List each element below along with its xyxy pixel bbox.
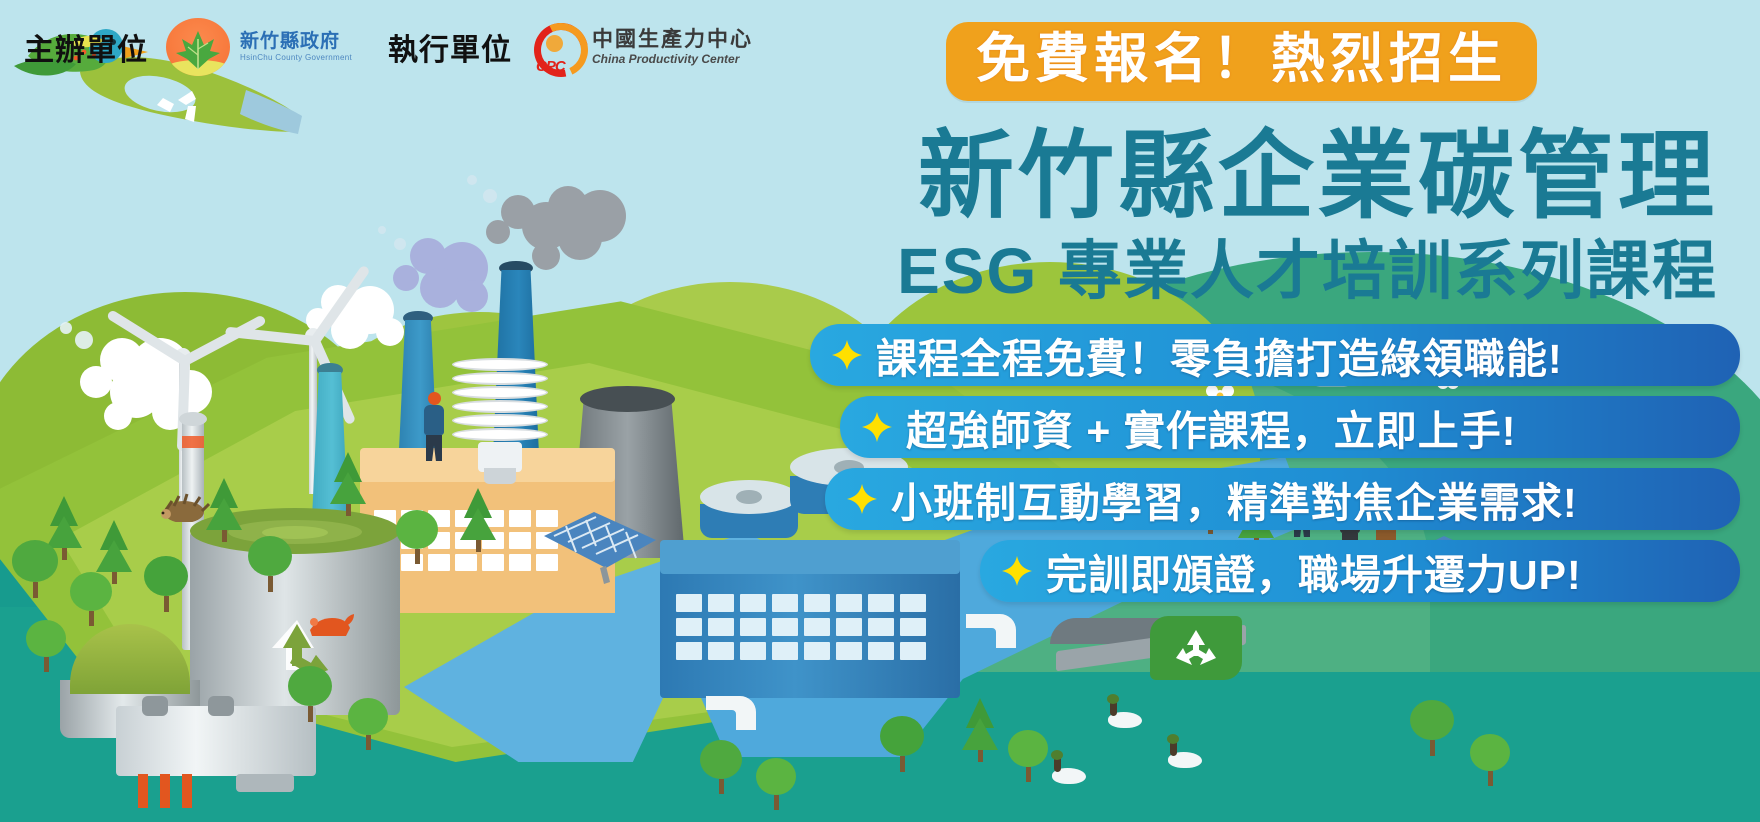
page-subtitle: ESG 專業人才培訓系列課程 — [600, 236, 1740, 308]
duck-1 — [1108, 712, 1142, 728]
fox — [302, 608, 356, 638]
duck-2 — [1168, 752, 1202, 768]
cpc-name-en: China Productivity Center — [592, 53, 753, 66]
feature-label-3: 小班制互動學習，精準對焦企業需求! — [891, 469, 1578, 529]
star-icon — [847, 484, 877, 514]
worker-on-roof — [420, 392, 448, 470]
sponsor-header: 主辦單位 新竹縣政府 HsinChu County Government 執行單… — [24, 18, 753, 76]
pine-tree-3 — [206, 478, 242, 542]
cpc-logo: CPC 中國生產力中心 China Productivity Center — [530, 21, 753, 73]
pine-tree-6 — [962, 698, 998, 762]
free-registration-text: 免費報名！熱烈招生 — [976, 31, 1507, 88]
tree-10 — [756, 758, 796, 810]
outflow-pipe-1 — [700, 690, 780, 738]
feature-label-1: 課程全程免費！零負擔打造綠領職能! — [876, 325, 1563, 385]
hedgehog — [158, 492, 210, 522]
text-column: 新竹縣企業碳管理 ESG 專業人才培訓系列課程 課程全程免費！零負擔打造綠領職能… — [600, 128, 1740, 602]
hsinchu-county-logo: 新竹縣政府 HsinChu County Government — [166, 18, 352, 76]
executor-label: 執行單位 — [388, 25, 512, 69]
tree-7 — [288, 666, 332, 722]
cpc-name-cn: 中國生產力中心 — [592, 29, 753, 51]
outflow-pipe-2 — [960, 608, 1040, 656]
feature-item-3[interactable]: 小班制互動學習，精準對焦企業需求! — [825, 468, 1740, 530]
cpc-abbr: CPC — [536, 58, 565, 75]
recycle-ground-badge — [1150, 616, 1242, 680]
feature-item-2[interactable]: 超強師資 + 實作課程，立即上手! — [840, 396, 1740, 458]
tree-9 — [700, 740, 742, 794]
star-icon — [1002, 556, 1032, 586]
power-plant-block — [116, 690, 316, 800]
tree-5 — [248, 536, 292, 592]
tree-1 — [12, 540, 58, 598]
promo-banner: 主辦單位 新竹縣政府 HsinChu County Government 執行單… — [0, 0, 1760, 822]
hsinchu-name-en: HsinChu County Government — [240, 54, 352, 62]
cfl-bulb-icon — [452, 356, 548, 496]
star-icon — [862, 412, 892, 442]
organizer-label: 主辦單位 — [24, 25, 148, 69]
tree-8 — [348, 698, 388, 750]
free-registration-badge[interactable]: 免費報名！熱烈招生 — [946, 22, 1537, 101]
feature-label-2: 超強師資 + 實作課程，立即上手! — [906, 397, 1516, 457]
star-icon — [832, 340, 862, 370]
page-title: 新竹縣企業碳管理 — [600, 128, 1740, 226]
tree-2 — [70, 572, 112, 626]
tree-11 — [880, 716, 924, 772]
feature-item-4[interactable]: 完訓即頒證，職場升遷力UP! — [980, 540, 1740, 602]
cpc-swirl-icon: CPC — [530, 21, 584, 73]
feature-list: 課程全程免費！零負擔打造綠領職能! 超強師資 + 實作課程，立即上手! 小班制互… — [600, 324, 1740, 602]
feature-label-4: 完訓即頒證，職場升遷力UP! — [1046, 541, 1582, 601]
tree-3 — [144, 556, 188, 612]
recycle-icon — [1169, 624, 1223, 672]
tree-13 — [1410, 700, 1454, 756]
feature-item-1[interactable]: 課程全程免費！零負擔打造綠領職能! — [810, 324, 1740, 386]
hsinchu-name-cn: 新竹縣政府 — [240, 32, 352, 51]
tree-6 — [396, 510, 438, 564]
tree-12 — [1008, 730, 1048, 782]
tree-4 — [26, 620, 66, 672]
pine-tree-5 — [460, 488, 496, 552]
duck-3 — [1052, 768, 1086, 784]
hsinchu-leaf-icon — [166, 18, 230, 76]
tree-14 — [1470, 734, 1510, 786]
pine-tree-4 — [330, 452, 366, 516]
